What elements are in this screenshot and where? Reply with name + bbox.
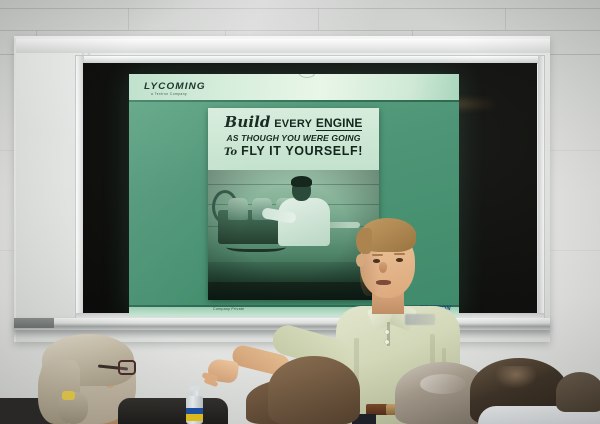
tray-end-cap <box>14 318 54 328</box>
hair-tie <box>62 391 75 400</box>
presenter-chest-logo <box>405 314 435 325</box>
poster-line3: FLY IT YOURSELF! <box>241 144 363 158</box>
bottle-cap <box>189 386 200 391</box>
poster-line1-word3: ENGINE <box>316 116 363 131</box>
lycoming-tagline: a Textron Company <box>151 92 187 96</box>
presenter-ear <box>356 254 365 267</box>
classroom-presentation-photo: LYCOMING a Textron Company Build EVERY E… <box>0 0 600 424</box>
poster-line1-word2: EVERY <box>274 118 312 130</box>
slide-footer-note: Company Private <box>213 307 244 311</box>
slide-header-band: LYCOMING a Textron Company <box>129 74 459 102</box>
poster-line3-prefix: To <box>224 147 237 158</box>
audience-head-center-left <box>268 356 360 424</box>
eyeglasses-lens <box>118 360 136 375</box>
presenter-mouth <box>376 280 391 285</box>
poster-line1-script: Build <box>225 113 271 131</box>
projector-lens-artifact <box>299 74 315 78</box>
poster-line2: AS THOUGH YOU WERE GOING <box>208 133 379 143</box>
poster-headline: Build EVERY ENGINE AS THOUGH YOU WERE GO… <box>208 108 379 170</box>
chair-back <box>118 398 228 424</box>
lycoming-logo: LYCOMING <box>144 81 206 91</box>
audience-head-far-right <box>556 372 600 412</box>
